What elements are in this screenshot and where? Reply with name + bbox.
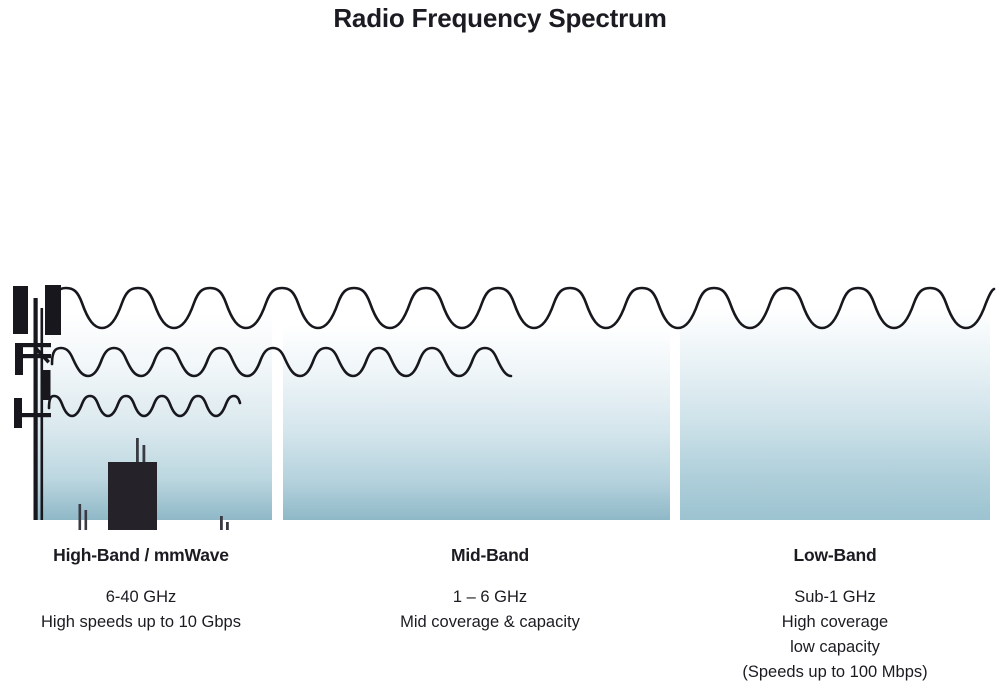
- band-label-mid-band: Mid-Band 1 – 6 GHz Mid coverage & capaci…: [330, 545, 650, 635]
- band-label-high-band: High-Band / mmWave 6-40 GHz High speeds …: [0, 545, 282, 635]
- band-title-mid-band: Mid-Band: [330, 545, 650, 566]
- page-title: Radio Frequency Spectrum: [0, 3, 1000, 34]
- skyscraper-icon: [108, 462, 157, 530]
- band-line: (Speeds up to 100 Mbps): [675, 660, 995, 685]
- band-line: Sub-1 GHz: [675, 585, 995, 610]
- band-description-low-band: Sub-1 GHz High coverage low capacity (Sp…: [675, 585, 995, 685]
- sky-panels: [35, 308, 990, 520]
- band-description-mid-band: 1 – 6 GHz Mid coverage & capacity: [330, 585, 650, 635]
- radio-frequency-spectrum-infographic: Radio Frequency Spectrum: [0, 0, 1000, 700]
- band-line: 1 – 6 GHz: [330, 585, 650, 610]
- spectrum-scene: [0, 140, 1000, 530]
- band-title-high-band: High-Band / mmWave: [0, 545, 282, 566]
- band-line: 6-40 GHz: [0, 585, 282, 610]
- band-line: Mid coverage & capacity: [330, 610, 650, 635]
- band-line: High speeds up to 10 Gbps: [0, 610, 282, 635]
- band-title-low-band: Low-Band: [675, 545, 995, 566]
- band-line: low capacity: [675, 635, 995, 660]
- band-labels: High-Band / mmWave 6-40 GHz High speeds …: [0, 545, 1000, 700]
- band-label-low-band: Low-Band Sub-1 GHz High coverage low cap…: [675, 545, 995, 685]
- band-line: High coverage: [675, 610, 995, 635]
- sky-panel-low-band: [680, 308, 990, 520]
- band-description-high-band: 6-40 GHz High speeds up to 10 Gbps: [0, 585, 282, 635]
